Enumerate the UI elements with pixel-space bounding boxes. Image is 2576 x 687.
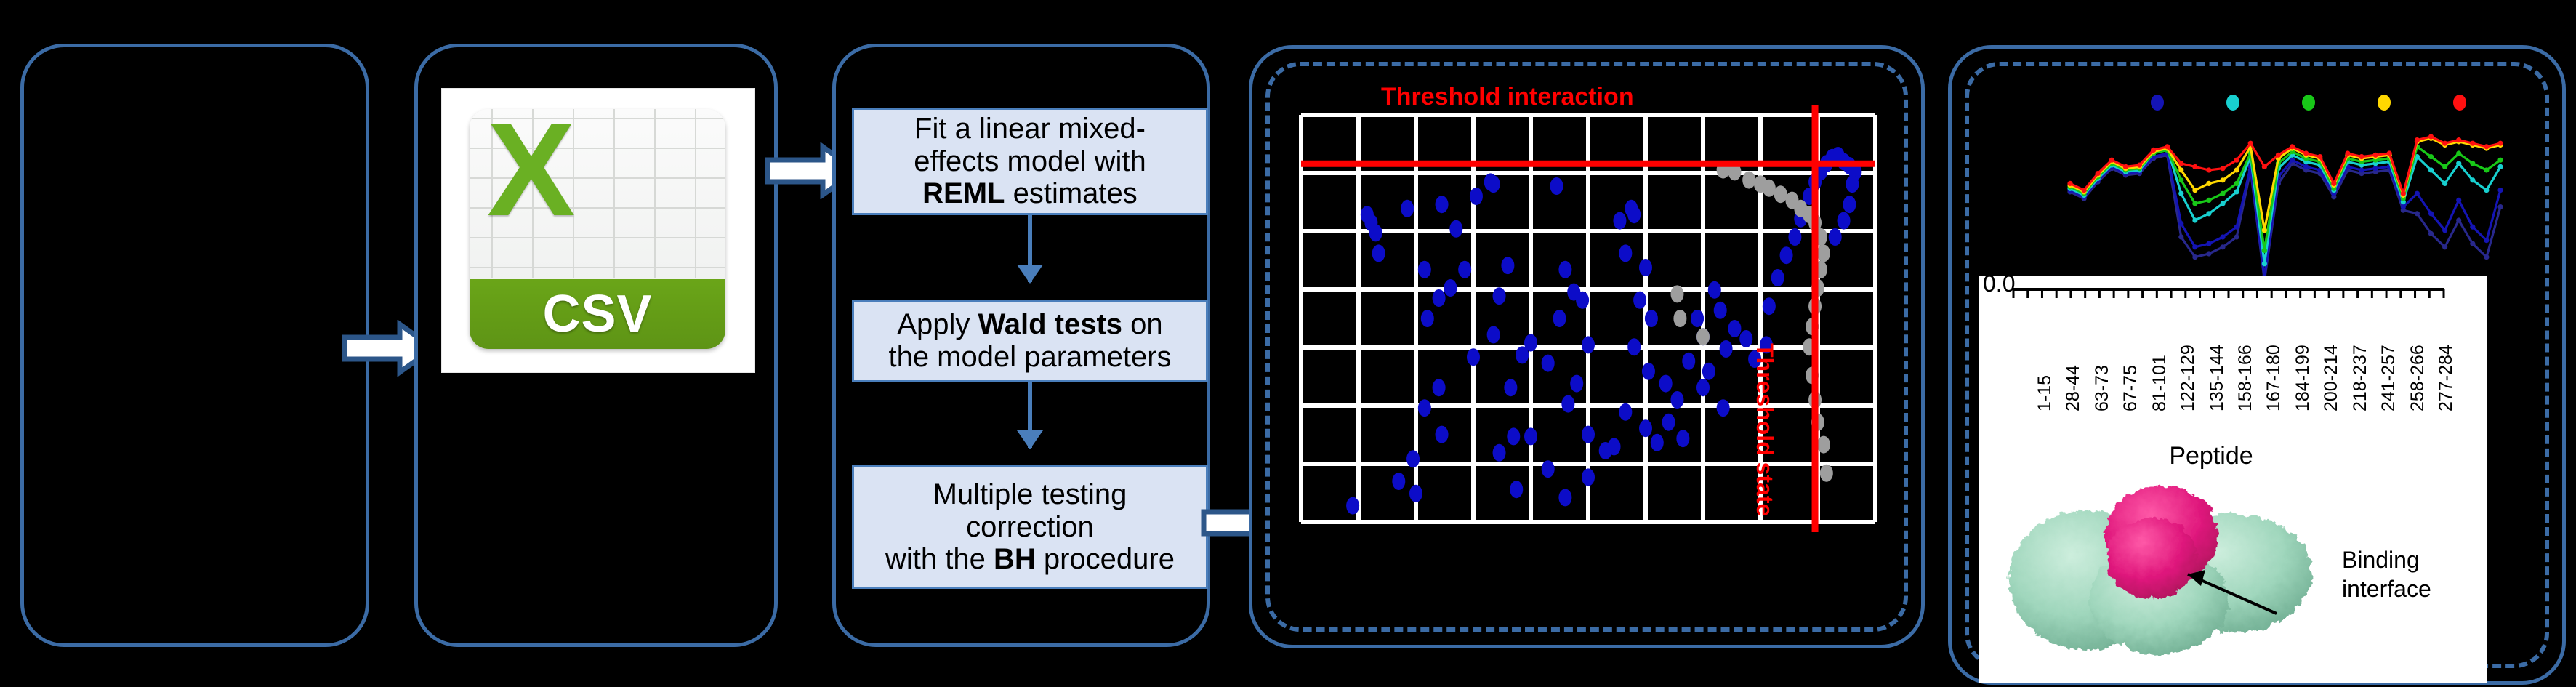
peptide-tick-label: 218-237 [2350, 345, 2371, 411]
peptide-tick-label: 81-101 [2149, 355, 2170, 411]
bh-correction-box[interactable]: Multiple testing correction with the BH … [852, 465, 1208, 589]
threshold-state-label: Threshold state [1751, 343, 1778, 516]
wald-line1-pre: Apply [897, 308, 978, 340]
fit-model-line1: Fit a linear mixed- [914, 113, 1146, 145]
csv-tile: X CSV [470, 109, 725, 349]
bh-bold: BH [994, 543, 1036, 575]
peptide-tick-label: 1-15 [2034, 375, 2056, 411]
peptide-axis-and-structure: 0.0 1-1528-4463-7367-7581-101122-129135-… [1979, 276, 2487, 683]
peptide-axis-title: Peptide [1979, 442, 2444, 470]
wald-tests-box[interactable]: Apply Wald tests on the model parameters [852, 300, 1208, 382]
peptide-tick-label: 167-180 [2263, 345, 2285, 411]
peptide-tick-label: 122-129 [2178, 345, 2199, 411]
volcano-plot: Threshold interaction Threshold state [1279, 73, 1890, 582]
binding-interface-annotation: Binding interface [2342, 545, 2431, 603]
fit-model-box[interactable]: Fit a linear mixed- effects model with R… [852, 108, 1208, 215]
wald-line1-post: on [1122, 308, 1163, 340]
fit-model-line3-rest: estimates [1005, 177, 1138, 209]
peptide-tick-labels: 1-1528-4463-7367-7581-101122-129135-1441… [1979, 302, 2487, 441]
connector-fit-to-wald [1028, 215, 1032, 282]
binding-line1: Binding [2342, 545, 2431, 574]
excel-x-icon: X [487, 121, 596, 222]
peptide-tick-label: 184-199 [2293, 345, 2314, 411]
peptide-tick-label: 241-257 [2378, 345, 2399, 411]
peptide-tick-label: 200-214 [2321, 345, 2342, 411]
bh-line3-pre: with the [885, 543, 994, 575]
peptide-tick-label: 63-73 [2092, 365, 2113, 411]
reml-bold: REML [922, 177, 1005, 209]
peptide-tick-label: 135-144 [2207, 345, 2228, 411]
protein-structure-image [1993, 471, 2349, 675]
bh-line1: Multiple testing [933, 478, 1127, 510]
csv-extension-label: CSV [542, 284, 652, 344]
pipeline-figure: X CSV Fit a linear mixed- effects model … [0, 0, 2576, 687]
csv-band: CSV [470, 279, 725, 349]
connector-wald-to-bh [1028, 382, 1032, 448]
peptide-tick-label: 67-75 [2120, 365, 2141, 411]
threshold-interaction-label: Threshold interaction [1381, 83, 1634, 111]
bh-line3-post: procedure [1036, 543, 1175, 575]
peptide-tick-label: 158-166 [2235, 345, 2256, 411]
peptide-tick-label: 258-266 [2407, 345, 2428, 411]
csv-file-icon[interactable]: X CSV [442, 89, 754, 372]
fit-model-line2: effects model with [914, 145, 1146, 177]
wald-line2: the model parameters [888, 341, 1171, 373]
peptide-tick-label: 277-284 [2436, 345, 2457, 411]
bh-line2: correction [966, 511, 1094, 543]
binding-line2: interface [2342, 574, 2431, 603]
input-panel [20, 44, 369, 647]
volcano-plot-canvas [1279, 73, 1890, 582]
wald-bold: Wald tests [978, 308, 1123, 340]
peptide-tick-label: 28-44 [2063, 365, 2084, 411]
